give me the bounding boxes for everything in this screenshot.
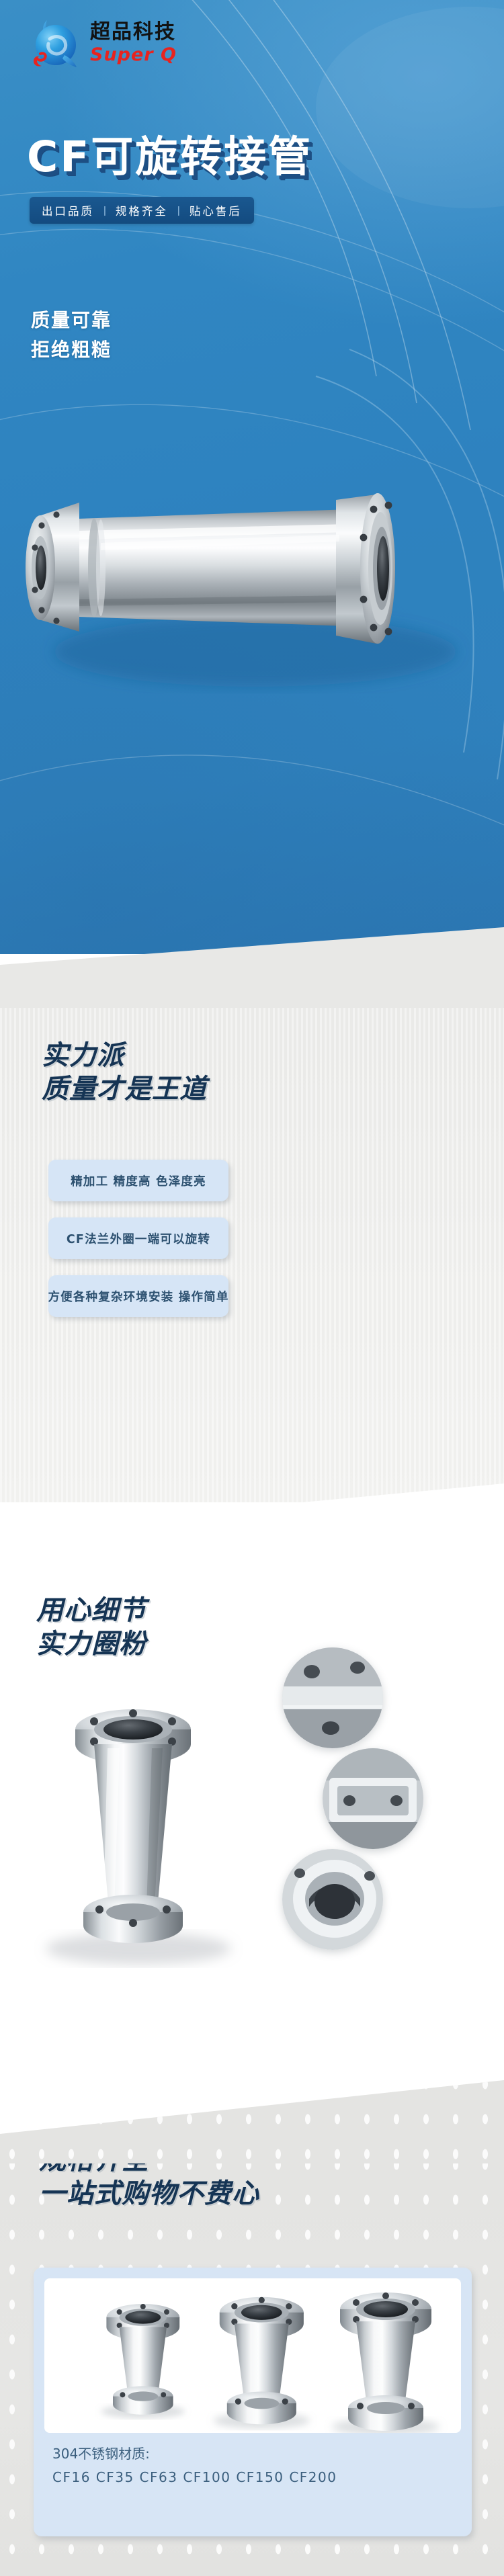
tagline-item-2: 规格齐全 — [116, 202, 168, 218]
details-heading-line-1: 用心细节 — [36, 1594, 146, 1627]
product-long-image-page: 超品科技 Super Q CF可旋转接管 出口品质 | 规格齐全 | 贴心售后 … — [0, 0, 504, 2576]
tagline-item-3: 贴心售后 — [190, 202, 242, 218]
details-thumbnail-group — [276, 1647, 477, 1963]
tagline-item-1: 出口品质 — [42, 202, 94, 218]
detail-thumbnail-1[interactable] — [282, 1647, 383, 1748]
specs-text-block: 304不锈钢材质: CF16 CF35 CF63 CF100 CF150 CF2… — [44, 2442, 461, 2489]
q-circle-logo-icon — [24, 12, 86, 74]
features-heading-line-1: 实力派 — [42, 1039, 207, 1072]
brand-logo: 超品科技 Super Q — [24, 12, 177, 74]
features-heading: 实力派 质量才是王道 — [42, 1039, 207, 1106]
brand-name-en: Super Q — [90, 46, 177, 64]
specs-models-line: CF16 CF35 CF63 CF100 CF150 CF200 — [52, 2466, 461, 2489]
left-flange — [26, 503, 79, 632]
hero-section: 超品科技 Super Q CF可旋转接管 出口品质 | 规格齐全 | 贴心售后 … — [0, 0, 504, 954]
features-section: 实力派 质量才是王道 精加工 精度高 色泽度亮 CF法兰外圈一端可以旋转 方便各… — [0, 965, 504, 1502]
tagline-separator-1: | — [103, 205, 106, 216]
tagline-separator-2: | — [177, 205, 180, 216]
specs-heading-line-2: 一站式购物不费心 — [39, 2177, 259, 2210]
hero-product-photo — [0, 430, 504, 806]
hero-subtitle-line-1: 质量可靠 — [31, 306, 112, 335]
specs-photo — [44, 2278, 461, 2433]
feature-pill-1[interactable]: 精加工 精度高 色泽度亮 — [48, 1160, 228, 1201]
detail-thumbnail-2[interactable] — [323, 1748, 423, 1849]
right-rotatable-flange — [336, 493, 395, 644]
details-heading-line-2: 实力圈粉 — [36, 1627, 146, 1661]
hero-subtitle: 质量可靠 拒绝粗糙 — [31, 306, 112, 365]
specs-material-label: 304不锈钢材质: — [52, 2442, 461, 2466]
details-section: 用心细节 实力圈粉 — [0, 1520, 504, 2098]
specs-card: 304不锈钢材质: CF16 CF35 CF63 CF100 CF150 CF2… — [34, 2268, 472, 2536]
hero-subtitle-line-2: 拒绝粗糙 — [31, 335, 112, 365]
feature-pill-2[interactable]: CF法兰外圈一端可以旋转 — [48, 1217, 228, 1259]
feature-pill-3[interactable]: 方便各种复杂环境安装 操作简单 — [48, 1275, 228, 1317]
features-heading-line-2: 质量才是王道 — [42, 1072, 207, 1106]
details-heading: 用心细节 实力圈粉 — [36, 1594, 146, 1661]
detail-thumbnail-3[interactable] — [282, 1849, 383, 1950]
specs-section: 规格齐全 一站式购物不费心 — [0, 2150, 504, 2576]
details-main-photo — [19, 1688, 261, 1970]
brand-name-cn: 超品科技 — [90, 22, 177, 42]
hero-tagline-bar: 出口品质 | 规格齐全 | 贴心售后 — [30, 197, 254, 224]
feature-pill-2-label: CF法兰外圈一端可以旋转 — [67, 1230, 210, 1247]
feature-pill-3-label: 方便各种复杂环境安装 操作简单 — [48, 1288, 228, 1305]
feature-pill-1-label: 精加工 精度高 色泽度亮 — [71, 1172, 206, 1189]
page-title: CF可旋转接管 — [27, 123, 312, 184]
